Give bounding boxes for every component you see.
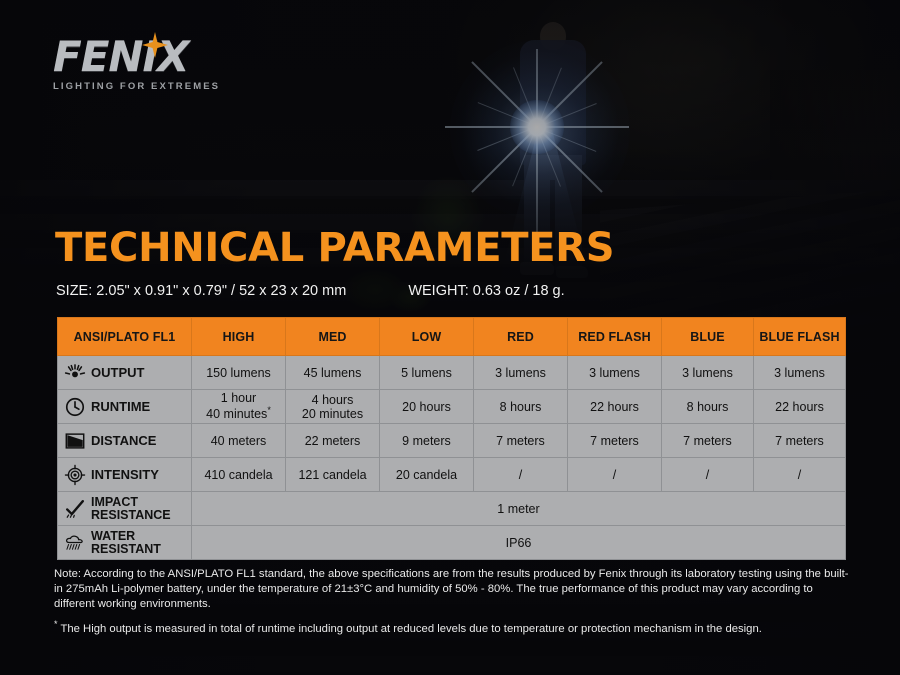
runtime-high-line1: 1 hour xyxy=(221,391,256,405)
weight-label: WEIGHT: 0.63 oz / 18 g. xyxy=(408,283,564,299)
cell-output-blue: 3 lumens xyxy=(662,356,754,390)
runtime-med-line2: 20 minutes xyxy=(302,407,363,421)
cell-impact-resistance-value: 1 meter xyxy=(192,492,846,526)
rain-cloud-icon xyxy=(64,532,86,554)
logo-tagline: LIGHTING FOR EXTREMES xyxy=(53,81,253,92)
cell-distance-high: 40 meters xyxy=(192,424,286,458)
cell-runtime-blue-flash: 22 hours xyxy=(754,390,846,424)
col-header-blue: BLUE xyxy=(662,318,754,356)
cell-output-red: 3 lumens xyxy=(474,356,568,390)
row-label-output: OUTPUT xyxy=(58,356,192,390)
col-header-red-flash: RED FLASH xyxy=(568,318,662,356)
cell-distance-red: 7 meters xyxy=(474,424,568,458)
clock-icon xyxy=(64,396,86,418)
technical-parameters-table: ANSI/PLATO FL1 HIGH MED LOW RED RED FLAS… xyxy=(57,317,846,560)
runtime-footnote-marker: * xyxy=(267,405,271,415)
cell-runtime-blue: 8 hours xyxy=(662,390,754,424)
footnote-marker: * xyxy=(54,619,58,629)
row-label-text: DISTANCE xyxy=(91,434,156,447)
runtime-high-line2: 40 minutes xyxy=(206,408,267,422)
cell-intensity-high: 410 candela xyxy=(192,458,286,492)
col-header-low: LOW xyxy=(380,318,474,356)
row-label-distance: DISTANCE xyxy=(58,424,192,458)
row-label-text: RUNTIME xyxy=(91,400,150,413)
crosshair-target-icon xyxy=(64,464,86,486)
impact-hammer-icon xyxy=(64,498,86,520)
impact-label-line2: RESISTANCE xyxy=(91,508,171,522)
table-row-water-resistant: WATER RESISTANT IP66 xyxy=(58,526,846,560)
fenix-logo: FENIX LIGHTING FOR EXTREMES xyxy=(53,36,253,94)
cell-intensity-blue-flash: / xyxy=(754,458,846,492)
cell-runtime-red-flash: 22 hours xyxy=(568,390,662,424)
sunburst-icon xyxy=(64,362,86,384)
row-label-text: WATER RESISTANT xyxy=(91,530,161,556)
cell-output-low: 5 lumens xyxy=(380,356,474,390)
row-label-water-resistant: WATER RESISTANT xyxy=(58,526,192,560)
four-point-star-icon xyxy=(142,32,168,58)
cell-intensity-red-flash: / xyxy=(568,458,662,492)
size-label: SIZE: 2.05" x 0.91" x 0.79" / 52 x 23 x … xyxy=(56,283,346,299)
beam-distance-icon xyxy=(64,430,86,452)
col-header-standard: ANSI/PLATO FL1 xyxy=(58,318,192,356)
col-header-high: HIGH xyxy=(192,318,286,356)
cell-intensity-blue: / xyxy=(662,458,754,492)
table-row-intensity: INTENSITY 410 candela 121 candela 20 can… xyxy=(58,458,846,492)
table-header-row: ANSI/PLATO FL1 HIGH MED LOW RED RED FLAS… xyxy=(58,318,846,356)
row-label-text: INTENSITY xyxy=(91,468,159,481)
cell-distance-blue: 7 meters xyxy=(662,424,754,458)
cell-runtime-red: 8 hours xyxy=(474,390,568,424)
col-header-med: MED xyxy=(286,318,380,356)
cell-runtime-high: 1 hour 40 minutes* xyxy=(192,390,286,424)
cell-distance-med: 22 meters xyxy=(286,424,380,458)
cell-output-med: 45 lumens xyxy=(286,356,380,390)
table-row-impact-resistance: IMPACT RESISTANCE 1 meter xyxy=(58,492,846,526)
cell-output-blue-flash: 3 lumens xyxy=(754,356,846,390)
cell-water-resistant-value: IP66 xyxy=(192,526,846,560)
table-row-distance: DISTANCE 40 meters 22 meters 9 meters 7 … xyxy=(58,424,846,458)
cell-output-red-flash: 3 lumens xyxy=(568,356,662,390)
note-footnote: * The High output is measured in total o… xyxy=(54,619,854,637)
page-title: TECHNICAL PARAMETERS xyxy=(55,228,614,268)
col-header-red: RED xyxy=(474,318,568,356)
cell-intensity-med: 121 candela xyxy=(286,458,380,492)
cell-intensity-low: 20 candela xyxy=(380,458,474,492)
footnote-text: The High output is measured in total of … xyxy=(60,623,761,635)
table-row-runtime: RUNTIME 1 hour 40 minutes* 4 hours 20 mi… xyxy=(58,390,846,424)
runtime-med-line1: 4 hours xyxy=(312,393,354,407)
note-standard: Note: According to the ANSI/PLATO FL1 st… xyxy=(54,567,854,612)
water-label-line2: RESISTANT xyxy=(91,542,161,556)
row-label-text: OUTPUT xyxy=(91,366,144,379)
row-label-impact-resistance: IMPACT RESISTANCE xyxy=(58,492,192,526)
cell-distance-red-flash: 7 meters xyxy=(568,424,662,458)
row-label-runtime: RUNTIME xyxy=(58,390,192,424)
notes-block: Note: According to the ANSI/PLATO FL1 st… xyxy=(54,567,854,637)
cell-distance-low: 9 meters xyxy=(380,424,474,458)
cell-runtime-low: 20 hours xyxy=(380,390,474,424)
cell-output-high: 150 lumens xyxy=(192,356,286,390)
row-label-text: IMPACT RESISTANCE xyxy=(91,496,171,522)
cell-distance-blue-flash: 7 meters xyxy=(754,424,846,458)
cell-runtime-med: 4 hours 20 minutes xyxy=(286,390,380,424)
table-row-output: OUTPUT 150 lumens 45 lumens 5 lumens 3 l… xyxy=(58,356,846,390)
col-header-blue-flash: BLUE FLASH xyxy=(754,318,846,356)
cell-intensity-red: / xyxy=(474,458,568,492)
size-weight-line: SIZE: 2.05" x 0.91" x 0.79" / 52 x 23 x … xyxy=(56,283,856,299)
row-label-intensity: INTENSITY xyxy=(58,458,192,492)
